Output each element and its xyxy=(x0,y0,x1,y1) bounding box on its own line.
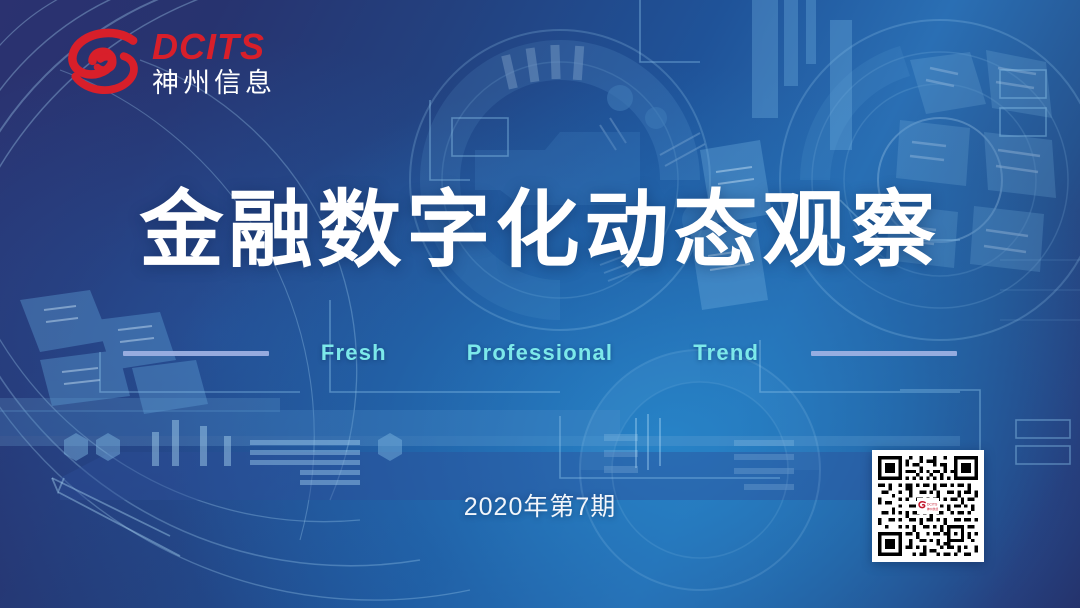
svg-text:DCITS: DCITS xyxy=(927,502,938,506)
dcits-mini-logo-icon: DCITS 神州信息 xyxy=(918,499,938,513)
brand-wordmark: DCITS xyxy=(152,29,276,65)
svg-text:神州信息: 神州信息 xyxy=(927,506,938,511)
tagline-word-trend: Trend xyxy=(693,340,759,366)
tagline-word-fresh: Fresh xyxy=(321,340,387,366)
page-title: 金融数字化动态观察 xyxy=(0,183,1080,277)
tagline-words: Fresh Professional Trend xyxy=(321,340,759,366)
tagline-word-professional: Professional xyxy=(467,340,613,366)
qr-code[interactable]: DCITS 神州信息 xyxy=(872,450,984,562)
poster-canvas: DCITS 神州信息 金融数字化动态观察 Fresh Professional … xyxy=(0,0,1080,608)
tagline-rule-left xyxy=(123,351,269,356)
tagline-row: Fresh Professional Trend xyxy=(0,340,1080,366)
qr-center-logo: DCITS 神州信息 xyxy=(917,498,939,514)
tagline-rule-right xyxy=(811,351,957,356)
brand-logo: DCITS 神州信息 xyxy=(66,28,276,100)
brand-chinese-name: 神州信息 xyxy=(152,68,276,99)
dcits-spiral-logo-icon xyxy=(66,28,144,100)
